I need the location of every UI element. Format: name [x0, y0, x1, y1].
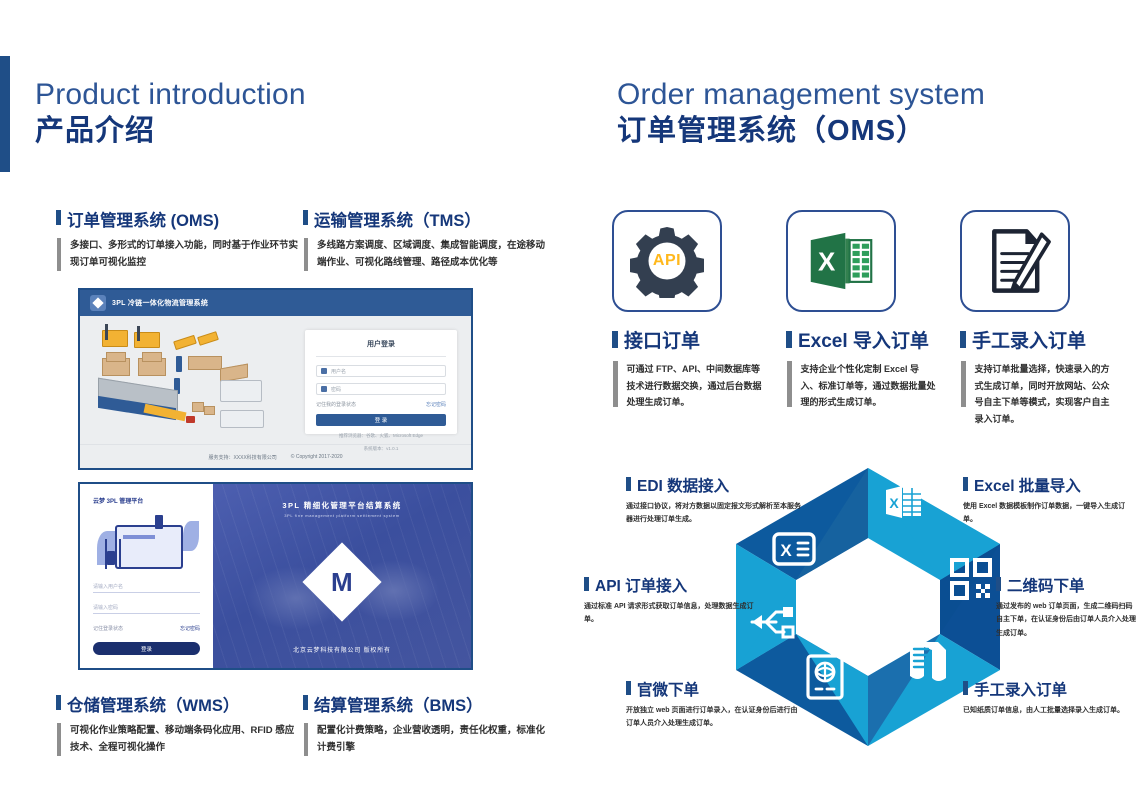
bullet-square-icon [303, 210, 308, 225]
forklift-mast-icon [105, 324, 108, 340]
card-title-manual: 手工录入订单 [960, 326, 1115, 353]
system-block-bms: 结算管理系统（BMS） 配置化计费策略，企业营收透明，责任化权重，标准化计费引擎 [303, 692, 549, 756]
system-desc-oms: 多接口、多形式的订单接入功能，同时基于作业环节实现订单可视化监控 [56, 238, 302, 271]
card-desc-excel-text: 支持企业个性化定制 Excel 导入、标准订单等，通过数据批量处理的形式生成订单… [801, 361, 936, 411]
divider [316, 356, 446, 357]
page-title-right-en: Order management system [617, 78, 985, 112]
hex-title-excel-import-text: Excel 批量导入 [974, 474, 1081, 496]
footer-copyright-text: © Copyright 2017-2020 [291, 454, 343, 460]
browser-note-line2: 系统版本：v1.0.1 [316, 445, 446, 452]
hex-label-qr: 二维码下单 通过发布的 web 订单页面，生成二维码扫码自主下单，在认证身份后由… [996, 574, 1136, 640]
screenshot-wms-login: 3PL 冷链一体化物流管理系统 [78, 288, 473, 470]
bullet-square-icon [56, 695, 61, 710]
bullet-square-icon [786, 331, 792, 348]
person-icon [107, 551, 115, 565]
svg-text:X: X [780, 541, 792, 560]
excel-file-icon: X [786, 210, 896, 312]
page-title-right-cn: 订单管理系统（OMS） [617, 113, 985, 149]
bullet-square-icon [963, 477, 968, 491]
red-box-icon [186, 416, 195, 423]
portal-brand-text: 云梦 3PL 管理平台 [93, 496, 200, 505]
vertical-rule [304, 238, 308, 271]
system-desc-tms-text: 多线路方案调度、区域调度、集成智能调度，在途移动端作业、可视化路线管理、路径成本… [317, 238, 549, 271]
portal-login-panel: 云梦 3PL 管理平台 请输入用户名 请输入密码 记住登录状态 忘记密码 登录 [80, 484, 213, 668]
hex-title-manual-text: 手工录入订单 [974, 678, 1067, 700]
card-title-api: 接口订单 [612, 326, 767, 353]
system-desc-bms: 配置化计费策略，企业营收透明，责任化权重，标准化计费引擎 [303, 723, 549, 756]
password-input[interactable]: 密码 [316, 383, 446, 395]
card-desc-manual-text: 支持订单批量选择，快速录入的方式生成订单，同时开放网站、公众号自主下单等模式，实… [975, 361, 1110, 428]
system-title-oms: 订单管理系统 (OMS) [56, 207, 302, 231]
pallet-boxes-icon [106, 352, 126, 362]
bullet-square-icon [56, 210, 61, 225]
system-title-oms-text: 订单管理系统 (OMS) [67, 207, 219, 231]
bullet-square-icon [626, 681, 631, 695]
hex-desc-manual-text: 已知纸质订单信息，由人工批量选择录入生成订单。 [963, 704, 1135, 717]
vertical-rule [961, 361, 966, 407]
page-title-left-cn: 产品介绍 [35, 113, 306, 149]
hex-desc-api-text: 通过标准 API 请求形式获取订单信息，处理数据生成订单。 [584, 600, 762, 627]
small-box-icon [192, 402, 204, 412]
hex-title-api-text: API 订单接入 [595, 574, 687, 596]
portal-copyright: 北京云梦科技有限公司 版权所有 [293, 645, 391, 654]
system-title-bms-text: 结算管理系统（BMS） [314, 692, 483, 716]
hex-label-manual: 手工录入订单 已知纸质订单信息，由人工批量选择录入生成订单。 [963, 678, 1135, 717]
hex-desc-excel-import-text: 使用 Excel 数据模板制作订单数据，一键导入生成订单。 [963, 500, 1133, 527]
portal-hero-title-group: 3PL 精细化管理平台结算系统 3PL fine management plat… [282, 500, 401, 518]
truck-icon [220, 410, 264, 428]
laptop-icon [115, 525, 183, 569]
footer-support-text: 服务支持：XXXX科技有限公司 [208, 454, 276, 461]
bullet-square-icon [303, 695, 308, 710]
card-title-excel: Excel 导入订单 [786, 326, 941, 353]
hex-label-api: API 订单接入 通过标准 API 请求形式获取订单信息，处理数据生成订单。 [584, 574, 762, 627]
hex-desc-edi-text: 通过接口协议，将对方数据以固定报文形式解析至本服务器进行处理订单生成。 [626, 500, 801, 527]
system-title-tms: 运输管理系统（TMS） [303, 207, 549, 231]
portal-username-input[interactable]: 请输入用户名 [93, 583, 200, 593]
system-title-wms: 仓储管理系统（WMS） [56, 692, 302, 716]
hex-title-qr-text: 二维码下单 [1007, 574, 1085, 596]
hex-label-excel-import: Excel 批量导入 使用 Excel 数据模板制作订单数据，一键导入生成订单。 [963, 474, 1133, 527]
vertical-rule [304, 723, 308, 756]
vertical-rule [613, 361, 618, 407]
hex-title-manual: 手工录入订单 [963, 678, 1135, 700]
pallet-boxes-icon [142, 352, 162, 362]
svg-text:X: X [889, 495, 899, 511]
username-placeholder: 用户名 [331, 368, 346, 375]
portal-hero-title: 3PL 精细化管理平台结算系统 [282, 500, 401, 511]
truck-icon [220, 380, 262, 402]
bullet-square-icon [996, 577, 1001, 591]
page-title-right: Order management system 订单管理系统（OMS） [617, 78, 985, 149]
portal-illustration [93, 511, 200, 573]
page-title-left-en: Product introduction [35, 78, 306, 112]
bullet-square-icon [584, 577, 589, 591]
password-placeholder: 密码 [331, 386, 341, 393]
portal-login-button[interactable]: 登录 [93, 642, 200, 655]
hex-title-qr: 二维码下单 [996, 574, 1136, 596]
order-channel-card-api: API 接口订单 可通过 FTP、API、中间数据库等技术进行数据交换，通过后台… [612, 210, 767, 411]
warehouse-illustration [80, 316, 305, 444]
forgot-password-link[interactable]: 忘记密码 [426, 401, 446, 408]
system-desc-wms: 可视化作业策略配置、移动端条码化应用、RFID 感应技术、全程可视化操作 [56, 723, 302, 756]
screenshot-body: 用户登录 用户名 密码 记住我的登录状态 忘记密码 登 录 推荐浏览器：谷歌、火… [80, 316, 471, 444]
system-desc-bms-text: 配置化计费策略，企业营收透明，责任化权重，标准化计费引擎 [317, 723, 549, 756]
pallet-jack-icon [173, 335, 197, 350]
system-desc-wms-text: 可视化作业策略配置、移动端条码化应用、RFID 感应技术、全程可视化操作 [70, 723, 302, 756]
screenshot-titlebar-text: 3PL 冷链一体化物流管理系统 [112, 298, 208, 308]
excel-sheet-icon: X [886, 486, 921, 518]
system-desc-oms-text: 多接口、多形式的订单接入功能，同时基于作业环节实现订单可视化监控 [70, 238, 302, 271]
portal-password-input[interactable]: 请输入密码 [93, 604, 200, 614]
portal-options-row: 记住登录状态 忘记密码 [93, 625, 200, 632]
large-crate-icon [188, 356, 222, 370]
portal-forgot-link[interactable]: 忘记密码 [180, 625, 200, 632]
login-button[interactable]: 登 录 [316, 414, 446, 426]
card-title-excel-text: Excel 导入订单 [798, 326, 929, 353]
system-block-oms: 订单管理系统 (OMS) 多接口、多形式的订单接入功能，同时基于作业环节实现订单… [56, 207, 302, 271]
browser-note-line1: 推荐浏览器：谷歌、火狐、Microsoft Edge [316, 432, 446, 439]
forklift-mast-icon [137, 326, 140, 341]
portal-remember-label[interactable]: 记住登录状态 [93, 625, 123, 632]
hex-title-edi: EDI 数据接入 [626, 474, 801, 496]
bullet-square-icon [963, 681, 968, 695]
card-title-api-text: 接口订单 [624, 326, 700, 353]
leaf-icon [183, 521, 199, 551]
remember-checkbox-label[interactable]: 记住我的登录状态 [316, 401, 356, 408]
hex-title-api: API 订单接入 [584, 574, 762, 596]
pallet-jack-icon [197, 331, 219, 346]
user-icon [321, 368, 327, 374]
small-box-icon [204, 406, 215, 415]
card-desc-api: 可通过 FTP、API、中间数据库等技术进行数据交换，通过后台数据处理生成订单。 [612, 361, 767, 411]
hex-title-wechat-text: 官微下单 [637, 678, 699, 700]
bullet-square-icon [612, 331, 618, 348]
hex-label-wechat: 官微下单 开放独立 web 页面进行订单录入，在认证身份后进行由订单人员介入处理… [626, 678, 802, 731]
hex-title-wechat: 官微下单 [626, 678, 802, 700]
hex-desc-qr-text: 通过发布的 web 订单页面，生成二维码扫码自主下单，在认证身份后由订单人员介入… [996, 600, 1136, 640]
screenshot-3pl-portal: 云梦 3PL 管理平台 请输入用户名 请输入密码 记住登录状态 忘记密码 登录 … [78, 482, 473, 670]
hex-desc-wechat-text: 开放独立 web 页面进行订单录入，在认证身份后进行由订单人员介入处理生成订单。 [626, 704, 802, 731]
left-accent-bar [0, 56, 10, 172]
order-channel-card-excel: X Excel 导入订单 支持企业个性化定制 Excel 导入、标准订单等，通过… [786, 210, 941, 411]
vertical-rule [57, 238, 61, 271]
worker-icon [176, 356, 182, 372]
login-card-title: 用户登录 [316, 339, 446, 349]
portal-layout: 云梦 3PL 管理平台 请输入用户名 请输入密码 记住登录状态 忘记密码 登录 … [80, 484, 471, 668]
page-title-left: Product introduction 产品介绍 [35, 78, 306, 149]
system-title-tms-text: 运输管理系统（TMS） [314, 207, 481, 231]
system-desc-tms: 多线路方案调度、区域调度、集成智能调度，在途移动端作业、可视化路线管理、路径成本… [303, 238, 549, 271]
vertical-rule [787, 361, 792, 407]
hex-label-edi: EDI 数据接入 通过接口协议，将对方数据以固定报文形式解析至本服务器进行处理订… [626, 474, 801, 527]
screenshot-titlebar: 3PL 冷链一体化物流管理系统 [80, 290, 471, 316]
system-title-wms-text: 仓储管理系统（WMS） [67, 692, 239, 716]
card-title-manual-text: 手工录入订单 [972, 326, 1086, 353]
svg-text:X: X [818, 248, 836, 276]
portal-logo-letter: M [331, 568, 353, 594]
card-desc-manual: 支持订单批量选择，快速录入的方式生成订单，同时开放网站、公众号自主下单等模式，实… [960, 361, 1115, 428]
api-gear-icon-label: API [653, 252, 681, 270]
hex-title-edi-text: EDI 数据接入 [637, 474, 729, 496]
api-gear-icon: API [612, 210, 722, 312]
bullet-square-icon [626, 477, 631, 491]
document-pencil-icon [960, 210, 1070, 312]
username-input[interactable]: 用户名 [316, 365, 446, 377]
person-icon [155, 515, 163, 529]
hex-title-excel-import: Excel 批量导入 [963, 474, 1133, 496]
login-card: 用户登录 用户名 密码 记住我的登录状态 忘记密码 登 录 推荐浏览器：谷歌、火… [305, 330, 457, 434]
system-block-tms: 运输管理系统（TMS） 多线路方案调度、区域调度、集成智能调度，在途移动端作业、… [303, 207, 549, 271]
portal-hero-panel: 3PL 精细化管理平台结算系统 3PL fine management plat… [213, 484, 471, 668]
bullet-square-icon [960, 331, 966, 348]
order-channel-card-manual: 手工录入订单 支持订单批量选择，快速录入的方式生成订单，同时开放网站、公众号自主… [960, 210, 1115, 428]
vertical-rule [57, 723, 61, 756]
system-title-bms: 结算管理系统（BMS） [303, 692, 549, 716]
portal-hero-subtitle: 3PL fine management platform settlement … [282, 513, 401, 518]
card-desc-excel: 支持企业个性化定制 Excel 导入、标准订单等，通过数据批量处理的形式生成订单… [786, 361, 941, 411]
lock-icon [321, 386, 327, 392]
system-block-wms: 仓储管理系统（WMS） 可视化作业策略配置、移动端条码化应用、RFID 感应技术… [56, 692, 302, 756]
card-desc-api-text: 可通过 FTP、API、中间数据库等技术进行数据交换，通过后台数据处理生成订单。 [627, 361, 762, 411]
login-options-row: 记住我的登录状态 忘记密码 [316, 401, 446, 408]
app-logo-icon [90, 295, 106, 311]
